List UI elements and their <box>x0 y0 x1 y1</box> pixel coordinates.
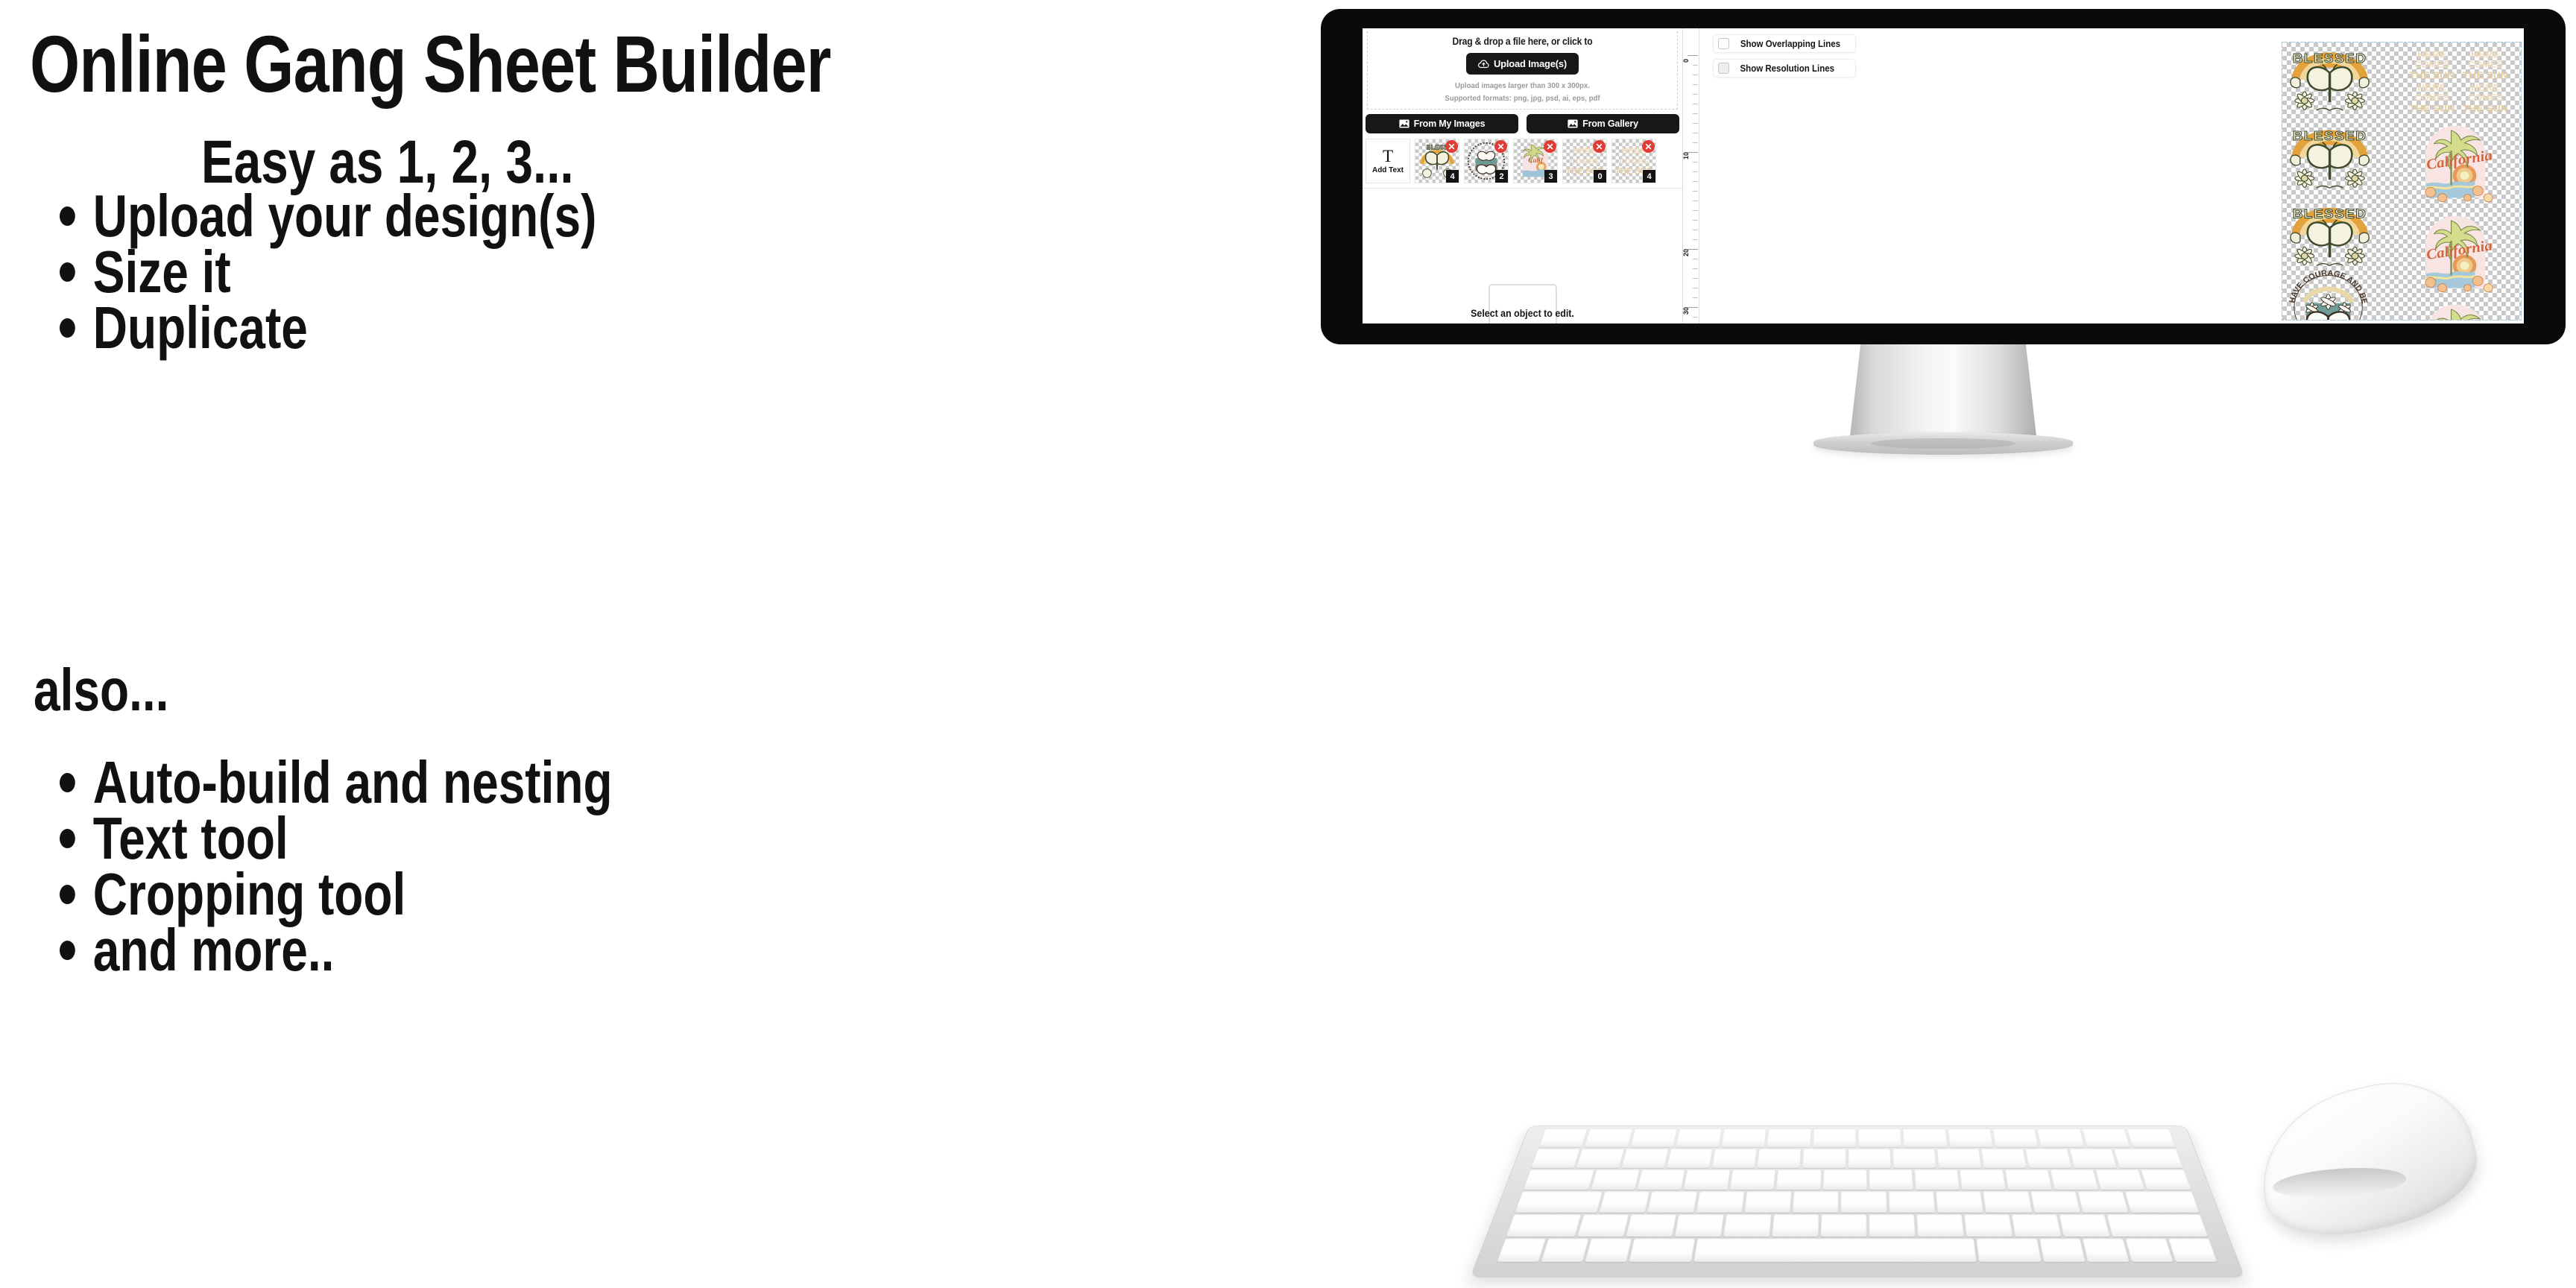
ruler-label: 10 <box>1682 152 1690 160</box>
from-my-images-label: From My Images <box>1414 119 1486 129</box>
list-item: and more.. <box>60 921 334 980</box>
svg-text:Calif: Calif <box>1528 157 1544 165</box>
status-badge: 2 <box>1495 170 1508 183</box>
canvas-artwork: BLESSED <box>2282 42 2521 320</box>
checkbox-icon[interactable] <box>1718 38 1729 49</box>
list-item[interactable]: Calif ✕ 3 <box>1513 139 1558 183</box>
layer-thumbnail-grid: T Add Text BLESS <box>1363 136 1682 189</box>
bullet-dot-icon <box>60 318 75 338</box>
close-icon[interactable]: ✕ <box>1642 140 1655 153</box>
also-label: also... <box>34 656 168 724</box>
bullet-dot-icon <box>60 262 75 282</box>
dropzone-size-note: Upload images larger than 300 x 300px. <box>1383 81 1661 90</box>
dropzone-formats-note: Supported formats: png, jpg, psd, ai, ep… <box>1383 94 1661 103</box>
text-tool-icon: T <box>1383 148 1393 165</box>
page-title: Online Gang Sheet Builder <box>30 22 1008 106</box>
list-item: Duplicate <box>60 298 308 358</box>
from-gallery-button[interactable]: From Gallery <box>1527 114 1679 133</box>
upload-button-label: Upload Image(s) <box>1494 58 1567 69</box>
list-item[interactable]: HERE COMES THE SUN ✕ 0 <box>1562 139 1607 183</box>
list-item-label: Duplicate <box>93 294 308 361</box>
list-item: Cropping tool <box>60 865 405 924</box>
list-item-label: and more.. <box>93 917 335 983</box>
list-item[interactable]: BLESS ✕ 4 <box>1415 139 1459 183</box>
keyboard-keys <box>1497 1129 2217 1263</box>
close-icon[interactable]: ✕ <box>1544 140 1556 153</box>
status-badge: 0 <box>1594 170 1606 183</box>
bullet-dot-icon <box>60 885 75 904</box>
marketing-copy: Online Gang Sheet Builder Easy as 1, 2, … <box>0 0 1312 1288</box>
svg-text:COMES: COMES <box>1570 157 1600 166</box>
monitor-stand-base <box>1813 432 2073 455</box>
show-resolution-lines-option[interactable]: Show Resolution Lines <box>1713 59 1856 78</box>
ruler-label: 0 <box>1682 59 1690 63</box>
image-icon <box>1568 119 1578 128</box>
vertical-ruler: 0 10 20 30 <box>1683 28 1699 323</box>
list-item[interactable]: ✕ 2 <box>1464 139 1509 183</box>
list-item[interactable]: HERE COMES THE SUN ✕ 4 <box>1611 139 1656 183</box>
dropzone-title: Drag & drop a file here, or click to <box>1386 36 1658 47</box>
canvas-workspace: Show Overlapping Lines Show Resolution L… <box>1699 28 2524 323</box>
app-screen: Drag & drop a file here, or click to Upl… <box>1363 28 2524 323</box>
bullet-dot-icon <box>60 829 75 848</box>
close-icon[interactable]: ✕ <box>1494 140 1507 153</box>
wireless-keyboard[interactable] <box>1470 1061 2245 1278</box>
image-icon <box>1399 119 1409 128</box>
ruler-label: 20 <box>1682 249 1690 256</box>
poster-root: Online Gang Sheet Builder Easy as 1, 2, … <box>0 0 2576 1288</box>
bullet-dot-icon <box>60 206 75 226</box>
editor-hint: Select an object to edit. <box>1375 308 1670 319</box>
status-badge: 4 <box>1643 170 1655 183</box>
close-icon[interactable]: ✕ <box>1445 140 1458 153</box>
ruler-label: 30 <box>1682 307 1690 315</box>
tools-panel: Drag & drop a file here, or click to Upl… <box>1363 28 1683 323</box>
from-my-images-button[interactable]: From My Images <box>1366 114 1518 133</box>
list-item: Text tool <box>60 809 288 868</box>
object-editor-panel: Select an object to edit. <box>1363 189 1682 323</box>
image-source-buttons: From My Images From Gallery <box>1363 110 1682 136</box>
wireless-mouse[interactable] <box>2245 1066 2487 1252</box>
status-badge: 3 <box>1544 170 1557 183</box>
list-item: Auto-build and nesting <box>60 753 613 812</box>
list-item: Size it <box>60 242 231 302</box>
show-overlapping-lines-label: Show Overlapping Lines <box>1740 39 1840 49</box>
monitor-stand-neck <box>1849 344 2037 443</box>
svg-text:COMES: COMES <box>1620 157 1649 166</box>
gang-sheet-canvas[interactable]: BLESSED <box>2282 42 2522 321</box>
checkbox-icon[interactable] <box>1718 63 1729 74</box>
bullet-dot-icon <box>60 773 75 792</box>
close-icon[interactable]: ✕ <box>1593 140 1606 153</box>
from-gallery-label: From Gallery <box>1582 119 1638 129</box>
bullet-dot-icon <box>60 941 75 960</box>
monitor-display: Drag & drop a file here, or click to Upl… <box>1321 9 2566 344</box>
upload-images-button[interactable]: Upload Image(s) <box>1466 53 1579 75</box>
show-overlapping-lines-option[interactable]: Show Overlapping Lines <box>1713 34 1856 53</box>
show-resolution-lines-label: Show Resolution Lines <box>1740 63 1835 74</box>
status-badge: 4 <box>1446 170 1459 183</box>
cloud-upload-icon <box>1478 59 1489 69</box>
list-item: Upload your design(s) <box>60 186 596 246</box>
upload-dropzone[interactable]: Drag & drop a file here, or click to Upl… <box>1367 31 1678 110</box>
add-text-label: Add Text <box>1372 166 1404 174</box>
canvas-options: Show Overlapping Lines Show Resolution L… <box>1713 34 1856 78</box>
add-text-button[interactable]: T Add Text <box>1366 139 1410 183</box>
